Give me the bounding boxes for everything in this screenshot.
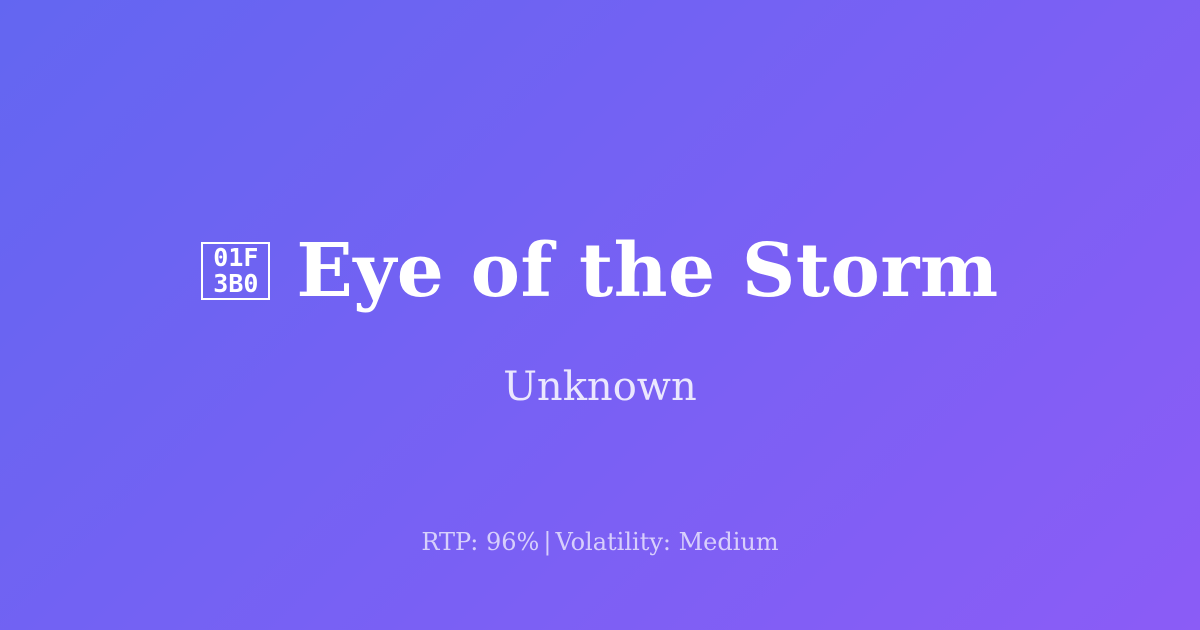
- stat-rtp: RTP: 96%: [421, 528, 539, 556]
- tofu-codepoint-row-bottom: 3B0: [213, 271, 258, 297]
- slot-machine-tofu-icon: 01F 3B0: [201, 242, 270, 300]
- title-row: 01F 3B0 Eye of the Storm: [0, 231, 1200, 311]
- stat-volatility: Volatility: Medium: [555, 528, 778, 556]
- game-preview-card: 01F 3B0 Eye of the Storm Unknown RTP: 96…: [0, 0, 1200, 630]
- game-stats: RTP: 96%|Volatility: Medium: [0, 527, 1200, 557]
- stat-separator: |: [539, 528, 555, 556]
- game-provider: Unknown: [0, 364, 1200, 410]
- game-title: Eye of the Storm: [296, 231, 998, 311]
- tofu-codepoint-row-top: 01F: [213, 245, 258, 271]
